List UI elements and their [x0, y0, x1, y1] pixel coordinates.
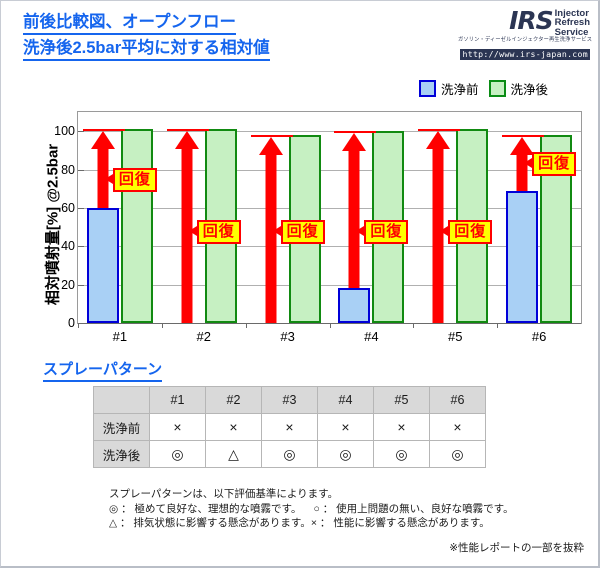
- arrow-head: [426, 131, 450, 149]
- table-col-3: #3: [262, 387, 318, 414]
- recovery-arrow-1: [91, 131, 115, 208]
- notes-line-1: スプレーパターンは、以下評価基準によります。: [109, 487, 514, 502]
- notes-line-3: △ ： 排気状態に影響する懸念があります。× ： 性能に影響する懸念があります。: [109, 516, 514, 531]
- cell-after-6: ◎: [430, 441, 486, 468]
- y-tick-label: 40: [61, 239, 75, 253]
- table-col-5: #5: [374, 387, 430, 414]
- notes-line-2: ◎ ： 極めて良好な、理想的な噴霧です。○ ： 使用上問題の無い、良好な噴霧です…: [109, 502, 514, 517]
- footnote: ※性能レポートの一部を抜粋: [449, 540, 584, 555]
- y-tick-label: 100: [54, 124, 75, 138]
- arrow-head: [342, 133, 366, 151]
- bar-before-6: [506, 191, 538, 323]
- table-col-1: #1: [150, 387, 206, 414]
- arrow-head: [175, 131, 199, 149]
- y-tick-mark: [78, 246, 84, 247]
- x-tick-label-4: #4: [364, 329, 378, 344]
- recovery-arrow-4: [342, 133, 366, 288]
- table-col-4: #4: [318, 387, 374, 414]
- callout-pointer-1: [105, 174, 113, 184]
- recovery-callout-2: 回復: [197, 220, 241, 244]
- cell-after-5: ◎: [374, 441, 430, 468]
- notes-line-3a: △ ： 排気状態に影響する懸念があります。: [109, 517, 311, 529]
- evaluation-notes: スプレーパターンは、以下評価基準によります。 ◎ ： 極めて良好な、理想的な噴霧…: [109, 487, 514, 531]
- callout-pointer-4: [356, 226, 364, 236]
- callout-pointer-6: [524, 158, 532, 168]
- x-tick-label-1: #1: [113, 329, 127, 344]
- y-tick-label: 20: [61, 278, 75, 292]
- cell-before-4: ×: [318, 414, 374, 441]
- bar-after-1: [121, 129, 153, 323]
- arrow-shaft: [349, 149, 360, 288]
- cell-before-3: ×: [262, 414, 318, 441]
- bar-chart: 相対噴射量[%] @2.5bar 020406080100#1回復#2回復#3回…: [1, 1, 600, 346]
- table-col-6: #6: [430, 387, 486, 414]
- table-corner-cell: [94, 387, 150, 414]
- callout-pointer-2: [189, 226, 197, 236]
- x-tick-label-6: #6: [532, 329, 546, 344]
- x-tick-label-3: #3: [280, 329, 294, 344]
- x-tick-mark: [246, 323, 247, 328]
- x-tick-mark: [413, 323, 414, 328]
- recovery-callout-6: 回復: [532, 152, 576, 176]
- cell-before-6: ×: [430, 414, 486, 441]
- bar-before-4: [338, 288, 370, 323]
- table-row: 洗浄後 ◎ △ ◎ ◎ ◎ ◎: [94, 441, 486, 468]
- callout-pointer-5: [440, 226, 448, 236]
- cell-after-1: ◎: [150, 441, 206, 468]
- recovery-callout-3: 回復: [281, 220, 325, 244]
- table-header-row: #1 #2 #3 #4 #5 #6: [94, 387, 486, 414]
- cell-after-2: △: [206, 441, 262, 468]
- y-axis-label: 相対噴射量[%] @2.5bar: [42, 110, 63, 340]
- y-tick-mark: [78, 170, 84, 171]
- notes-line-2a: ◎ ： 極めて良好な、理想的な噴霧です。: [109, 503, 301, 515]
- y-tick-mark: [78, 208, 84, 209]
- report-page: 前後比較図、オープンフロー 洗浄後2.5bar平均に対する相対値 IRS Inj…: [0, 0, 600, 568]
- bar-before-1: [87, 208, 119, 323]
- notes-line-3b: × ： 性能に影響する懸念があります。: [311, 517, 490, 529]
- y-tick-mark: [78, 131, 84, 132]
- table-col-2: #2: [206, 387, 262, 414]
- spray-pattern-table: #1 #2 #3 #4 #5 #6 洗浄前 × × × × × × 洗浄後 ◎ …: [93, 386, 486, 468]
- y-tick-label: 60: [61, 201, 75, 215]
- y-tick-label: 0: [68, 316, 75, 330]
- notes-line-2b: ○ ： 使用上問題の無い、良好な噴霧です。: [313, 503, 513, 515]
- recovery-callout-5: 回復: [448, 220, 492, 244]
- y-tick-label: 80: [61, 163, 75, 177]
- arrow-shaft: [265, 153, 276, 323]
- x-tick-label-5: #5: [448, 329, 462, 344]
- arrow-head: [259, 137, 283, 155]
- y-tick-mark: [78, 285, 84, 286]
- y-axis-label-wrap: 相対噴射量[%] @2.5bar: [9, 109, 31, 324]
- cell-before-5: ×: [374, 414, 430, 441]
- x-tick-mark: [78, 323, 79, 328]
- x-tick-mark: [162, 323, 163, 328]
- arrow-head: [91, 131, 115, 149]
- callout-pointer-3: [273, 226, 281, 236]
- recovery-callout-1: 回復: [113, 168, 157, 192]
- x-tick-mark: [330, 323, 331, 328]
- plot-area: 020406080100#1回復#2回復#3回復#4回復#5回復#6回復: [77, 111, 582, 324]
- cell-after-4: ◎: [318, 441, 374, 468]
- row-label-before: 洗浄前: [94, 414, 150, 441]
- table-row: 洗浄前 × × × × × ×: [94, 414, 486, 441]
- cell-after-3: ◎: [262, 441, 318, 468]
- x-tick-label-2: #2: [197, 329, 211, 344]
- cell-before-1: ×: [150, 414, 206, 441]
- recovery-callout-4: 回復: [364, 220, 408, 244]
- arrow-head: [510, 137, 534, 155]
- spray-pattern-title: スプレーパターン: [43, 358, 162, 382]
- cell-before-2: ×: [206, 414, 262, 441]
- grid-line: [78, 131, 581, 132]
- x-tick-mark: [497, 323, 498, 328]
- row-label-after: 洗浄後: [94, 441, 150, 468]
